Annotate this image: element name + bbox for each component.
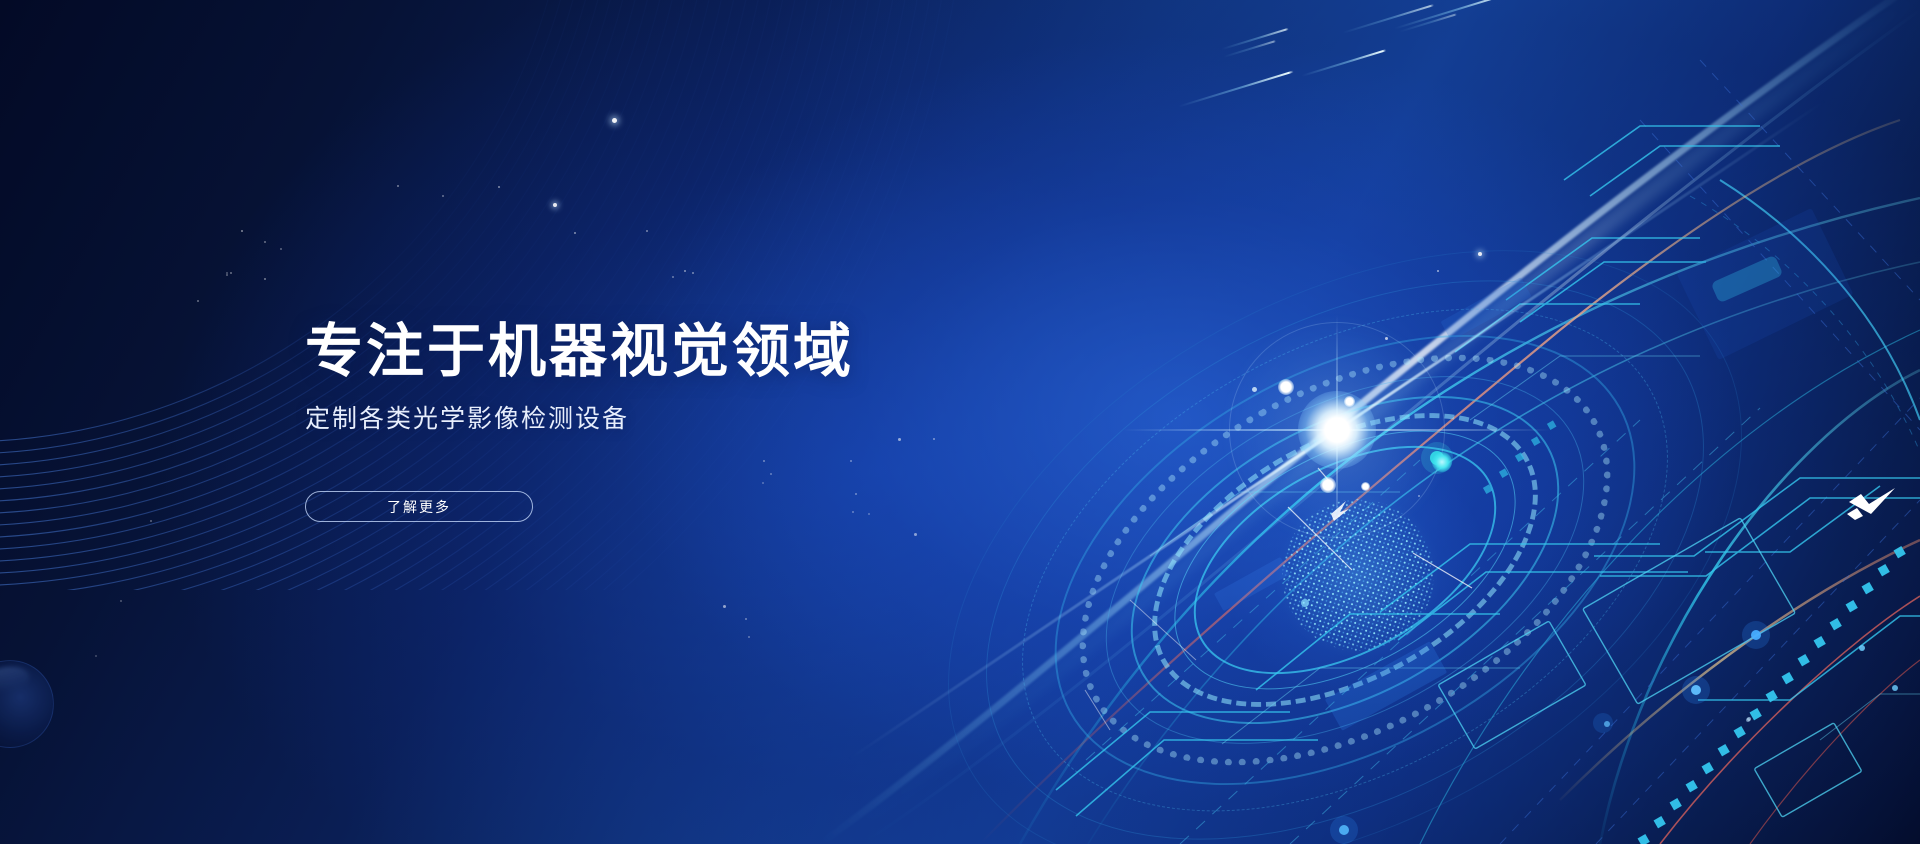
learn-more-button[interactable]: 了解更多 bbox=[305, 491, 533, 522]
page-title: 专注于机器视觉领域 bbox=[305, 320, 1025, 385]
flare-core bbox=[1298, 391, 1376, 469]
hero-content: 专注于机器视觉领域 定制各类光学影像检测设备 了解更多 bbox=[305, 320, 1025, 522]
hero-banner: 专注于机器视觉领域 定制各类光学影像检测设备 了解更多 bbox=[0, 0, 1920, 844]
page-subtitle: 定制各类光学影像检测设备 bbox=[305, 403, 1025, 436]
chevron-icon bbox=[1845, 486, 1899, 526]
